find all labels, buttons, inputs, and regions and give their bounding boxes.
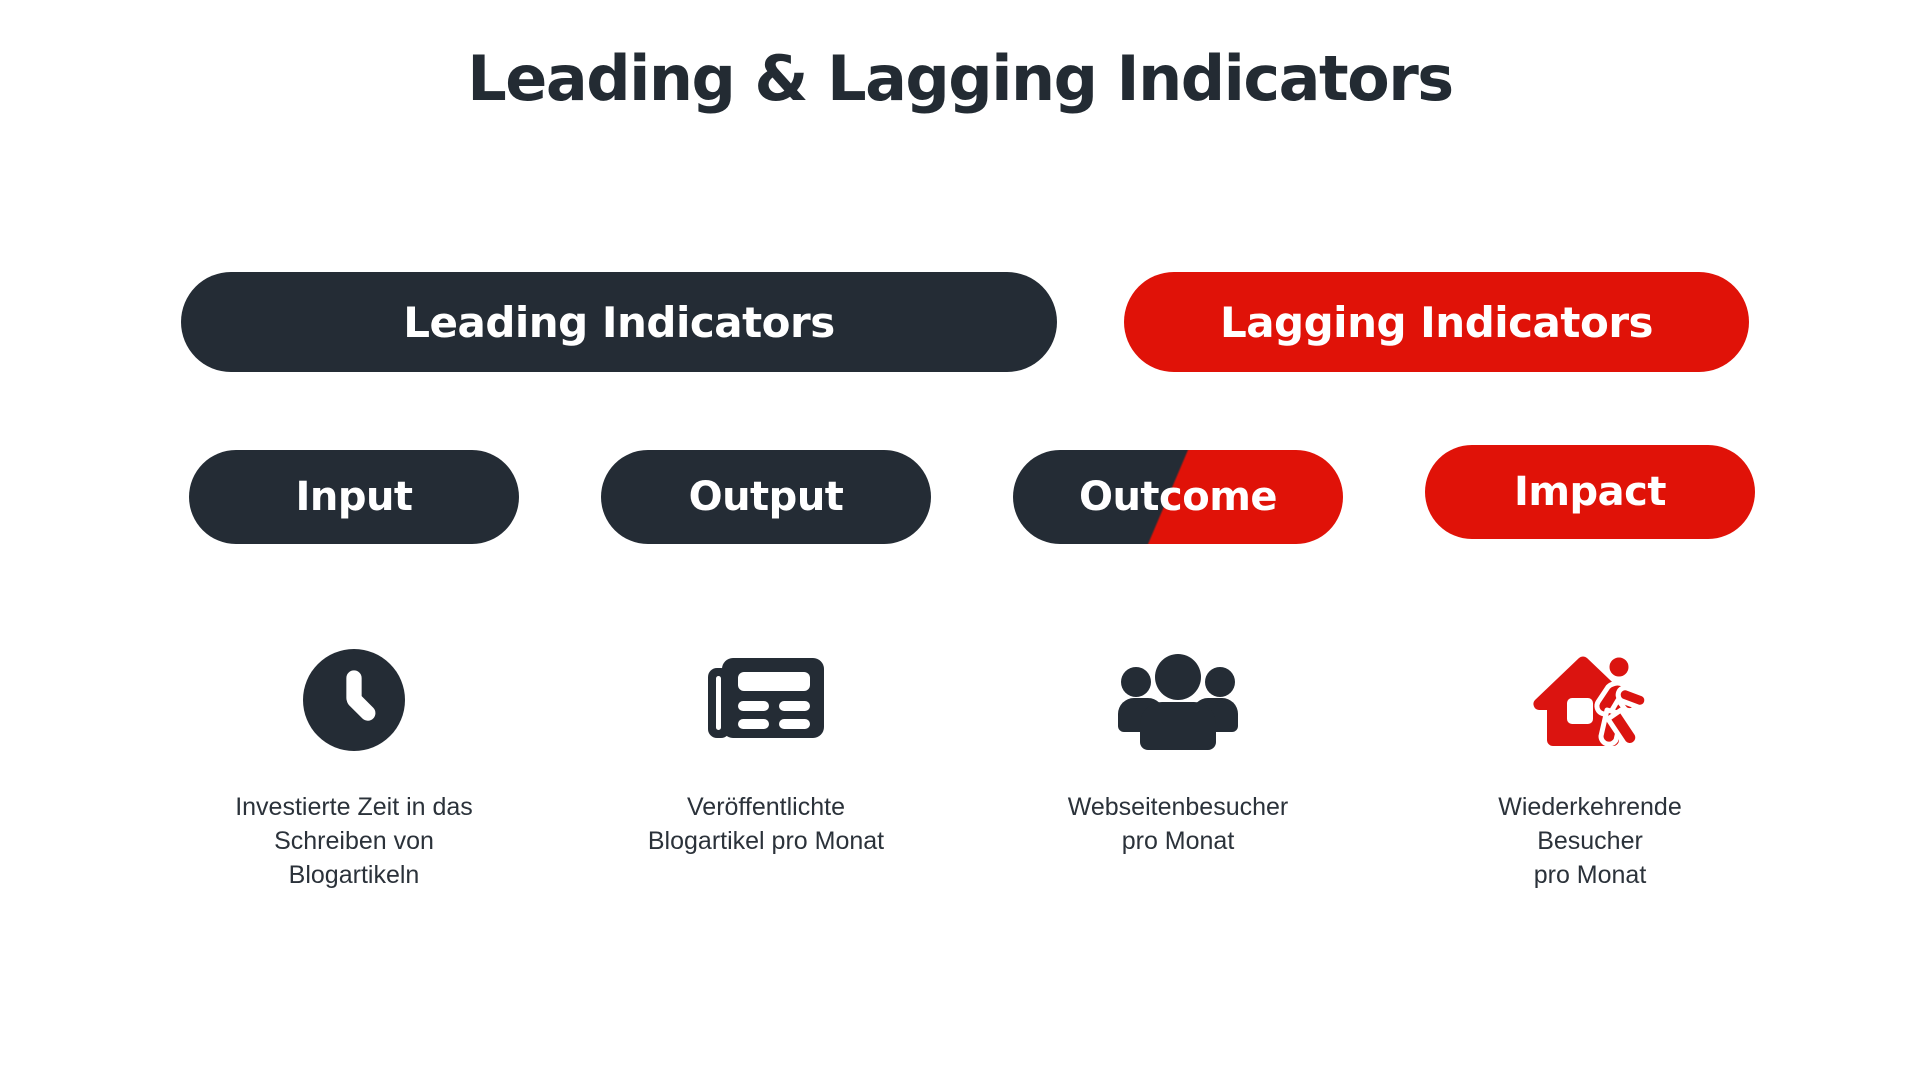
- stage-pill-output[interactable]: Output: [601, 450, 931, 544]
- category-pill-lagging[interactable]: Lagging Indicators: [1124, 272, 1749, 372]
- stage-pill-impact[interactable]: Impact: [1425, 445, 1755, 539]
- category-row: Leading Indicators Lagging Indicators: [0, 272, 1920, 372]
- category-pill-lagging-label: Lagging Indicators: [1220, 298, 1653, 347]
- house-runner-icon: [1527, 648, 1653, 752]
- newspaper-icon: [706, 650, 826, 750]
- stage-pill-input[interactable]: Input: [189, 450, 519, 544]
- clock-icon: [303, 649, 405, 751]
- icon-cell-impact: [1425, 640, 1755, 760]
- caption-outcome: Webseitenbesucher pro Monat: [1008, 790, 1348, 858]
- stage-pill-output-label: Output: [689, 474, 844, 520]
- slide-canvas: Leading & Lagging Indicators Leading Ind…: [0, 0, 1920, 1080]
- icon-cell-output: [601, 640, 931, 760]
- icon-cell-outcome: [1013, 640, 1343, 760]
- stage-pill-input-label: Input: [295, 474, 412, 520]
- category-pill-leading[interactable]: Leading Indicators: [181, 272, 1057, 372]
- stage-pill-impact-label: Impact: [1514, 469, 1666, 515]
- icon-cell-input: [189, 640, 519, 760]
- category-pill-leading-label: Leading Indicators: [403, 298, 835, 347]
- caption-row: Investierte Zeit in das Schreiben von Bl…: [0, 790, 1920, 930]
- page-title: Leading & Lagging Indicators: [0, 42, 1920, 115]
- stage-row: Input Output Outcome Impact: [0, 450, 1920, 554]
- stage-pill-outcome-label: Outcome: [1079, 474, 1277, 520]
- caption-output: Veröffentlichte Blogartikel pro Monat: [596, 790, 936, 858]
- stage-pill-outcome[interactable]: Outcome: [1013, 450, 1343, 544]
- caption-impact: Wiederkehrende Besucher pro Monat: [1420, 790, 1760, 892]
- caption-input: Investierte Zeit in das Schreiben von Bl…: [184, 790, 524, 892]
- people-group-icon: [1114, 650, 1242, 750]
- icon-row: [0, 640, 1920, 760]
